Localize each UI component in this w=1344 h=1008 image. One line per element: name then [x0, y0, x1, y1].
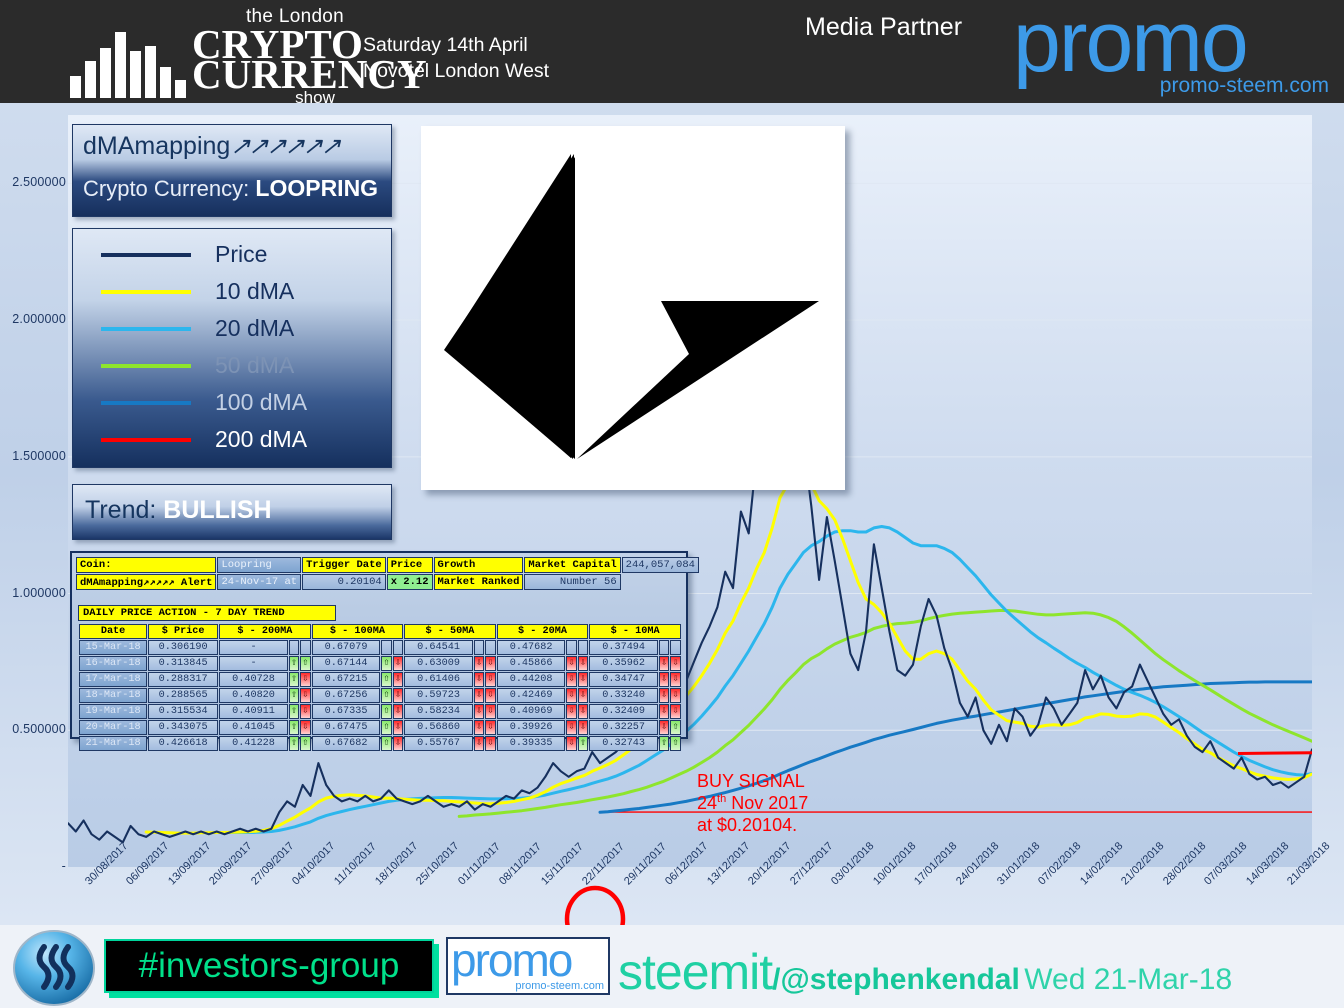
row-ma100: 0.67475: [312, 720, 381, 735]
summary-table: Coin:LoopringTrigger DatePriceGrowthMark…: [75, 556, 700, 591]
summary-cell: Coin:: [76, 557, 216, 573]
chart-date: Wed 21-Mar-18: [1024, 963, 1232, 996]
trend-arrow-icon: [381, 640, 391, 655]
daily-price-table: Date$ Price$ - 200MA$ - 100MA$ - 50MA$ -…: [78, 623, 682, 752]
steem-logo-icon: [8, 929, 100, 1007]
summary-cell: dMAmapping↗↗↗↗↗ Alert: [76, 574, 216, 590]
row-ma200: 0.41228: [219, 736, 288, 751]
trend-arrow-icon: ⇩: [659, 656, 669, 671]
row-date: 21-Mar-18: [79, 736, 147, 751]
trend-arrow-icon: ⇩: [578, 672, 588, 687]
row-ma20: 0.42469: [497, 688, 566, 703]
table-row: 19-Mar-180.3155340.40911⇧⇩0.67335⇧⇩0.582…: [79, 704, 681, 719]
row-ma50: 0.64541: [404, 640, 473, 655]
buy-signal-line1: BUY SIGNAL: [697, 771, 808, 793]
row-ma100: 0.67144: [312, 656, 381, 671]
buy-signal-line2: 24th Nov 2017: [697, 793, 808, 815]
y-axis-tick-label: 1.000000: [0, 586, 66, 600]
steemit-handle: /@stephenkendal: [772, 963, 1020, 996]
daily-table-band-title: DAILY PRICE ACTION - 7 DAY TREND: [78, 605, 336, 621]
trend-arrow-icon: ⇧: [300, 736, 310, 751]
legend-item-100-dma: 100 dMA: [73, 385, 393, 421]
x-axis: 30/08/201706/09/201713/09/201720/09/2017…: [0, 873, 1344, 925]
trend-arrow-icon: ⇩: [474, 736, 484, 751]
legend-swatch-line: [101, 401, 191, 405]
row-date: 18-Mar-18: [79, 688, 147, 703]
trend-arrow-icon: ⇧: [289, 704, 299, 719]
trend-arrow-icon: [289, 640, 299, 655]
trend-arrow-icon: ⇩: [659, 704, 669, 719]
brand-arrows-icon: ↗↗↗↗↗↗: [230, 133, 339, 160]
trend-arrow-icon: ⇩: [578, 720, 588, 735]
row-ma20: 0.44208: [497, 672, 566, 687]
trend-arrow-icon: [566, 640, 576, 655]
event-venue: Novotel London West: [363, 58, 549, 84]
row-ma50: 0.58234: [404, 704, 473, 719]
row-price: 0.426618: [148, 736, 218, 751]
row-ma50: 0.61406: [404, 672, 473, 687]
legend-label: Price: [215, 241, 267, 268]
trend-arrow-icon: ⇩: [393, 720, 403, 735]
trend-arrow-icon: ⇩: [485, 656, 495, 671]
table-row: 18-Mar-180.2885650.40820⇧⇩0.67256⇧⇩0.597…: [79, 688, 681, 703]
row-ma20: 0.39335: [497, 736, 566, 751]
row-ma10: 0.37494: [589, 640, 658, 655]
trend-arrow-icon: ⇩: [474, 672, 484, 687]
trend-arrow-icon: ⇧: [670, 736, 681, 751]
row-ma10: 0.34747: [589, 672, 658, 687]
table-row: 21-Mar-180.4266180.41228⇧⇧0.67682⇧⇩0.557…: [79, 736, 681, 751]
row-ma200: -: [219, 656, 288, 671]
row-price: 0.288317: [148, 672, 218, 687]
trend-arrow-icon: ⇩: [393, 736, 403, 751]
promo-steem-footer-logo: promo promo-steem.com: [446, 937, 610, 995]
promo-footer-url: promo-steem.com: [515, 980, 604, 992]
legend-swatch-line: [101, 364, 191, 368]
trend-arrow-icon: ⇩: [393, 672, 403, 687]
promo-steem-url: promo-steem.com: [1160, 74, 1329, 98]
trend-arrow-icon: ⇩: [670, 656, 681, 671]
daily-table-header-row: Date$ Price$ - 200MA$ - 100MA$ - 50MA$ -…: [79, 624, 681, 639]
table-row: 17-Mar-180.2883170.40728⇧⇩0.67215⇧⇩0.614…: [79, 672, 681, 687]
trend-arrow-icon: ⇧: [578, 736, 588, 751]
chart-legend: Price10 dMA20 dMA50 dMA100 dMA200 dMA: [72, 228, 392, 468]
table-row: 20-Mar-180.3430750.41045⇧⇩0.67475⇧⇩0.568…: [79, 720, 681, 735]
trend-arrow-icon: ⇧: [289, 672, 299, 687]
row-ma200: 0.40911: [219, 704, 288, 719]
event-date: Saturday 14th April: [363, 32, 549, 58]
row-price: 0.313845: [148, 656, 218, 671]
trend-arrow-icon: ⇧: [289, 736, 299, 751]
summary-cell: Growth: [434, 557, 524, 573]
daily-table-column-header: $ - 100MA: [312, 624, 404, 639]
event-details: Saturday 14th April Novotel London West: [363, 32, 549, 85]
row-ma10: 0.35962: [589, 656, 658, 671]
table-row: 16-Mar-180.313845-⇧⇧0.67144⇧⇩0.63009⇩⇩0.…: [79, 656, 681, 671]
trend-arrow-icon: ⇩: [485, 736, 495, 751]
buy-signal-annotation: BUY SIGNAL 24th Nov 2017 at $0.20104.: [697, 771, 808, 837]
buy-signal-line3: at $0.20104.: [697, 815, 808, 837]
trend-arrow-icon: ⇧: [289, 656, 299, 671]
row-ma50: 0.59723: [404, 688, 473, 703]
row-ma200: 0.40728: [219, 672, 288, 687]
legend-item-20-dma: 20 dMA: [73, 311, 393, 347]
y-axis-tick-label: 0.500000: [0, 722, 66, 736]
legend-swatch-line: [101, 253, 191, 257]
chart-title-panel: dMAmapping↗↗↗↗↗↗ Crypto Currency: LOOPRI…: [72, 124, 392, 217]
trend-arrow-icon: ⇧: [289, 688, 299, 703]
trend-arrow-icon: [474, 640, 484, 655]
crypto-currency-value: LOOPRING: [255, 175, 378, 201]
trend-arrow-icon: [659, 640, 669, 655]
trend-arrow-icon: [670, 640, 681, 655]
row-price: 0.306190: [148, 640, 218, 655]
row-ma10: 0.32257: [589, 720, 658, 735]
legend-label: 100 dMA: [215, 389, 307, 416]
page-footer: #investors-group promo promo-steem.com s…: [0, 925, 1344, 1008]
summary-cell: Market Capital: [524, 557, 620, 573]
trend-arrow-icon: ⇩: [474, 720, 484, 735]
row-ma10: 0.33240: [589, 688, 658, 703]
daily-table-column-header: $ - 200MA: [219, 624, 311, 639]
trend-arrow-icon: ⇩: [566, 688, 576, 703]
row-ma100: 0.67079: [312, 640, 381, 655]
summary-row-1: Coin:LoopringTrigger DatePriceGrowthMark…: [76, 557, 699, 573]
summary-cell: 244,057,084: [622, 557, 699, 573]
y-axis-tick-label: 2.500000: [0, 175, 66, 189]
trend-arrow-icon: ⇩: [393, 704, 403, 719]
trend-arrow-icon: ⇧: [381, 736, 391, 751]
trend-arrow-icon: ⇧: [381, 720, 391, 735]
row-ma100: 0.67335: [312, 704, 381, 719]
trend-arrow-icon: ⇩: [300, 720, 310, 735]
row-ma100: 0.67215: [312, 672, 381, 687]
daily-table-column-header: $ - 10MA: [589, 624, 681, 639]
row-date: 19-Mar-18: [79, 704, 147, 719]
trend-arrow-icon: ⇩: [393, 688, 403, 703]
promo-wordmark: promo: [1013, 2, 1331, 84]
row-date: 16-Mar-18: [79, 656, 147, 671]
trend-arrow-icon: ⇩: [670, 672, 681, 687]
row-ma100: 0.67682: [312, 736, 381, 751]
trend-arrow-icon: ⇩: [485, 672, 495, 687]
row-date: 17-Mar-18: [79, 672, 147, 687]
trend-arrow-icon: ⇧: [659, 736, 669, 751]
dmamapping-brand: dMAmapping↗↗↗↗↗↗: [83, 132, 339, 161]
trend-arrow-icon: ⇧: [289, 720, 299, 735]
trend-arrow-icon: ⇩: [566, 656, 576, 671]
summary-cell: Market Ranked: [434, 574, 524, 590]
row-ma10: 0.32743: [589, 736, 658, 751]
bar-chart-icon: [70, 32, 188, 98]
steemit-wordmark: steemit: [618, 944, 772, 1000]
trend-arrow-icon: ⇩: [485, 720, 495, 735]
trend-arrow-icon: ⇩: [659, 672, 669, 687]
trend-arrow-icon: ⇧: [381, 656, 391, 671]
promo-steem-logo: promo promo-steem.com: [1013, 2, 1331, 100]
trend-arrow-icon: ⇩: [659, 720, 669, 735]
trend-arrow-icon: ⇩: [485, 688, 495, 703]
trend-arrow-icon: ⇩: [474, 656, 484, 671]
row-price: 0.315534: [148, 704, 218, 719]
row-ma20: 0.40969: [497, 704, 566, 719]
trend-arrow-icon: [578, 640, 588, 655]
row-ma200: 0.40820: [219, 688, 288, 703]
steemit-credit: steemit/@stephenkendal Wed 21-Mar-18: [618, 943, 1232, 1001]
trend-arrow-icon: ⇩: [566, 736, 576, 751]
summary-cell: Loopring: [217, 557, 301, 573]
legend-item-200-dma: 200 dMA: [73, 422, 393, 458]
investors-group-label: #investors-group: [106, 941, 432, 991]
row-ma200: -: [219, 640, 288, 655]
legend-item-50-dma: 50 dMA: [73, 348, 393, 384]
trend-row: Trend: BULLISH: [85, 496, 272, 525]
summary-cell: Trigger Date: [302, 557, 386, 573]
daily-table-column-header: Date: [79, 624, 147, 639]
trend-arrow-icon: ⇧: [381, 688, 391, 703]
trend-arrow-icon: ⇧: [670, 720, 681, 735]
y-axis-tick-label: -: [0, 859, 66, 873]
summary-cell: x 2.12: [387, 574, 433, 590]
legend-swatch-line: [101, 290, 191, 294]
row-ma200: 0.41045: [219, 720, 288, 735]
row-price: 0.288565: [148, 688, 218, 703]
trend-arrow-icon: ⇧: [300, 656, 310, 671]
promo-footer-wordmark: promo: [448, 939, 608, 983]
row-ma50: 0.56860: [404, 720, 473, 735]
daily-table-body: 15-Mar-180.306190-0.670790.645410.476820…: [79, 640, 681, 751]
row-ma50: 0.63009: [404, 656, 473, 671]
legend-item-price: Price: [73, 237, 393, 273]
trend-arrow-icon: ⇧: [381, 704, 391, 719]
legend-swatch-line: [101, 327, 191, 331]
trend-arrow-icon: ⇩: [485, 704, 495, 719]
trend-arrow-icon: ⇩: [566, 672, 576, 687]
trend-value: BULLISH: [163, 496, 271, 524]
series-line-200-dma: [1238, 753, 1312, 754]
legend-item-10-dma: 10 dMA: [73, 274, 393, 310]
row-date: 20-Mar-18: [79, 720, 147, 735]
trend-arrow-icon: ⇩: [393, 656, 403, 671]
legend-label: 200 dMA: [215, 426, 307, 453]
loopring-logo-box: [421, 126, 845, 490]
legend-swatch-line: [101, 438, 191, 442]
summary-row-2: dMAmapping↗↗↗↗↗ Alert24-Nov-17 at0.20104…: [76, 574, 699, 590]
trend-arrow-icon: [485, 640, 495, 655]
trend-arrow-icon: ⇩: [300, 704, 310, 719]
trend-arrow-icon: ⇩: [670, 704, 681, 719]
trend-arrow-icon: ⇩: [566, 704, 576, 719]
row-ma50: 0.55767: [404, 736, 473, 751]
table-row: 15-Mar-180.306190-0.670790.645410.476820…: [79, 640, 681, 655]
daily-table-column-header: $ - 50MA: [404, 624, 496, 639]
trend-arrow-icon: ⇩: [578, 688, 588, 703]
daily-price-action-table-box: Coin:LoopringTrigger DatePriceGrowthMark…: [70, 551, 688, 739]
legend-label: 20 dMA: [215, 315, 294, 342]
london-crypto-show-logo: the London CRYPTO CURRENCY show: [70, 4, 330, 100]
y-axis-tick-label: 1.500000: [0, 449, 66, 463]
summary-cell: Number 56: [524, 574, 620, 590]
page-header: the London CRYPTO CURRENCY show Saturday…: [0, 0, 1344, 103]
row-ma20: 0.47682: [497, 640, 566, 655]
trend-arrow-icon: [300, 640, 310, 655]
trend-arrow-icon: ⇩: [670, 688, 681, 703]
row-ma100: 0.67256: [312, 688, 381, 703]
loopring-logo-icon: [421, 126, 845, 490]
trend-arrow-icon: [393, 640, 403, 655]
trend-panel: Trend: BULLISH: [72, 484, 392, 540]
crypto-currency-row: Crypto Currency: LOOPRING: [83, 175, 378, 202]
trend-arrow-icon: ⇩: [578, 656, 588, 671]
row-price: 0.343075: [148, 720, 218, 735]
trend-arrow-icon: ⇩: [474, 688, 484, 703]
legend-label: 50 dMA: [215, 352, 294, 379]
media-partner-label: Media Partner: [805, 13, 962, 42]
summary-cell: Price: [387, 557, 433, 573]
trend-arrow-icon: ⇩: [474, 704, 484, 719]
trend-arrow-icon: ⇩: [566, 720, 576, 735]
trend-arrow-icon: ⇧: [381, 672, 391, 687]
y-axis: -0.5000001.0000001.5000002.0000002.50000…: [0, 103, 66, 925]
y-axis-tick-label: 2.000000: [0, 312, 66, 326]
trend-arrow-icon: ⇩: [300, 672, 310, 687]
row-date: 15-Mar-18: [79, 640, 147, 655]
daily-table-column-header: $ - 20MA: [497, 624, 589, 639]
row-ma10: 0.32409: [589, 704, 658, 719]
summary-cell: 0.20104: [302, 574, 386, 590]
investors-group-badge[interactable]: #investors-group: [104, 939, 434, 993]
row-ma20: 0.45866: [497, 656, 566, 671]
row-ma20: 0.39926: [497, 720, 566, 735]
trend-arrow-icon: ⇩: [578, 704, 588, 719]
legend-label: 10 dMA: [215, 278, 294, 305]
summary-cell: 24-Nov-17 at: [217, 574, 301, 590]
daily-table-column-header: $ Price: [148, 624, 218, 639]
trend-arrow-icon: ⇩: [300, 688, 310, 703]
trend-arrow-icon: ⇩: [659, 688, 669, 703]
